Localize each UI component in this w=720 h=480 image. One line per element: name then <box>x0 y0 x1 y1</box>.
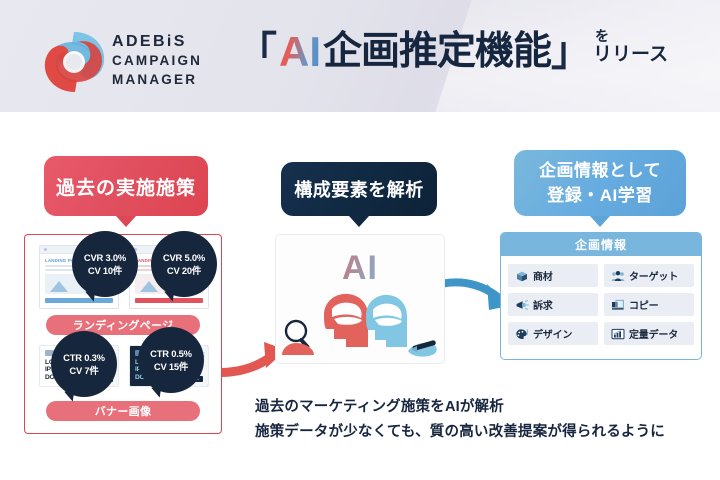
banner-register-line-1: 企画情報として <box>539 158 661 183</box>
metric-line-2: CV 7件 <box>69 364 98 377</box>
ai-big-label: AI <box>276 251 444 285</box>
metric-bubble: CTR 0.3% CV 7件 <box>51 331 117 397</box>
infographic-page: ADEBiS CAMPAIGN MANAGER 「 AI 企画推定機能 」 を … <box>0 0 720 480</box>
adebis-swirl-logo-icon <box>38 28 110 96</box>
title-close-bracket: 」 <box>551 26 591 78</box>
summary-text: 過去のマーケティング施策をAIが解析 施策データが少なくても、質の高い改善提案が… <box>255 395 665 445</box>
banner-register-ai-learning: 企画情報として 登録・AI学習 <box>514 150 686 216</box>
banner-analyze-components: 構成要素を解析 <box>281 162 437 216</box>
metric-line-1: CVR 5.0% <box>163 251 205 264</box>
title-suffix: を リリース <box>593 29 668 66</box>
plan-item-appeal[interactable]: 訴求 <box>508 293 598 316</box>
ai-illustration <box>280 285 440 359</box>
head-profile-red-icon <box>324 294 368 347</box>
diagram-canvas: 過去の実施施策 LANDING PAGE <box>0 112 720 480</box>
plan-item-product[interactable]: 商材 <box>508 264 598 287</box>
category-banner-image-label: バナー画像 <box>95 403 152 419</box>
past-measures-card: LANDING PAGE LANDING PAGE <box>24 234 222 434</box>
people-target-icon <box>611 270 625 282</box>
logo-line-2: CAMPAIGN <box>112 51 232 70</box>
pen-icon <box>408 340 437 357</box>
metric-bubble: CVR 5.0% CV 20件 <box>151 231 217 297</box>
magnifier-icon <box>282 321 314 355</box>
plan-item-design[interactable]: デザイン <box>508 322 598 345</box>
plan-item-label: 定量データ <box>629 326 678 341</box>
plan-item-label: ターゲット <box>629 268 678 283</box>
plan-information-grid: 商材 ターゲット 訴求 <box>501 256 701 353</box>
plan-information-card: 企画情報 商材 ターゲット <box>500 232 702 360</box>
plan-information-title: 企画情報 <box>501 233 701 256</box>
banner-tail <box>349 216 369 227</box>
metric-line-1: CTR 0.5% <box>150 347 192 360</box>
summary-line-1: 過去のマーケティング施策をAIが解析 <box>255 395 665 420</box>
ai-analysis-card: AI <box>275 234 445 364</box>
plan-item-label: 訴求 <box>533 297 553 312</box>
banner-register-line-2: 登録・AI学習 <box>547 183 653 208</box>
metric-line-2: CV 10件 <box>88 264 122 277</box>
title-particle: を <box>595 29 668 44</box>
logo-line-3: MANAGER <box>112 70 232 89</box>
plan-item-label: デザイン <box>533 326 572 341</box>
header-banner: ADEBiS CAMPAIGN MANAGER 「 AI 企画推定機能 」 を … <box>0 0 720 112</box>
metric-line-1: CVR 3.0% <box>84 251 126 264</box>
page-title: 「 AI 企画推定機能 」 を リリース <box>237 26 668 78</box>
head-profile-blue-icon <box>366 295 407 347</box>
plan-item-quantitative-data[interactable]: 定量データ <box>604 322 694 345</box>
metric-bubble: CVR 3.0% CV 10件 <box>72 231 138 297</box>
design-palette-icon <box>515 328 529 340</box>
category-banner-image: バナー画像 <box>46 401 200 421</box>
title-japanese: 企画推定機能 <box>323 26 551 78</box>
summary-line-2: 施策データが少なくても、質の高い改善提案が得られるように <box>255 420 665 445</box>
logo-wordmark: ADEBiS CAMPAIGN MANAGER <box>112 32 232 89</box>
banner-past-measures-label: 過去の実施施策 <box>56 173 196 200</box>
banner-tail <box>116 216 136 227</box>
metric-bubble: CTR 0.5% CV 15件 <box>138 327 204 393</box>
bar-chart-icon <box>611 328 625 340</box>
title-open-bracket: 「 <box>237 26 277 78</box>
plan-item-label: 商材 <box>533 268 553 283</box>
megaphone-icon <box>515 299 529 311</box>
metric-line-2: CV 15件 <box>154 360 188 373</box>
title-release-word: リリース <box>593 44 668 66</box>
plan-item-label: コピー <box>629 297 658 312</box>
plan-item-target[interactable]: ターゲット <box>604 264 694 287</box>
banner-analyze-label: 構成要素を解析 <box>294 176 424 202</box>
product-box-icon <box>515 270 529 282</box>
logo-line-1: ADEBiS <box>112 32 232 51</box>
plan-item-copy[interactable]: コピー <box>604 293 694 316</box>
title-ai-word: AI <box>277 26 323 78</box>
metric-line-1: CTR 0.3% <box>63 351 105 364</box>
banner-tail <box>590 216 610 227</box>
metric-line-2: CV 20件 <box>167 264 201 277</box>
copy-document-icon <box>611 299 625 311</box>
banner-past-measures: 過去の実施施策 <box>44 156 208 216</box>
